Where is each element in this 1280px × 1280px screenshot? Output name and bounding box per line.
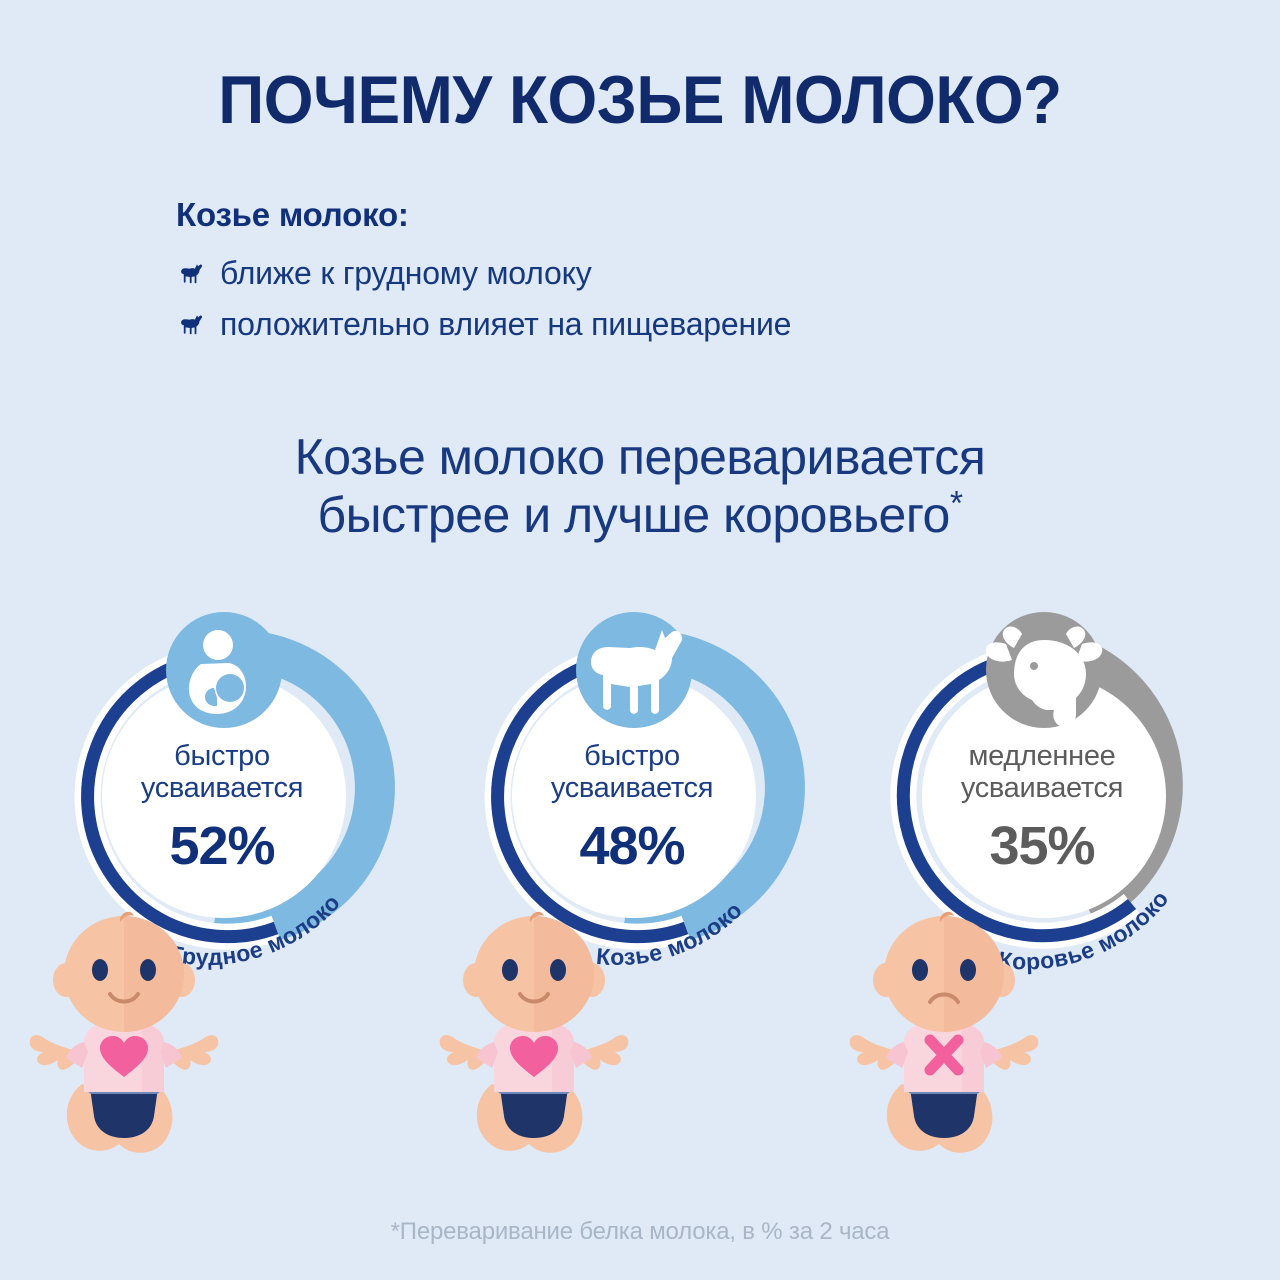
baby-happy-heart-illustration xyxy=(434,902,634,1172)
donut-chart-goat-milk: Козье молоко быстро усваивается 48% xyxy=(432,612,852,1172)
baby-eye-left xyxy=(502,959,518,981)
headline: Козье молоко переваривается быстрее и лу… xyxy=(0,428,1280,544)
donut-chart-breast-milk: Грудное молоко быстро усваивается 52% xyxy=(22,612,442,1172)
baby-happy-heart-illustration xyxy=(24,902,224,1172)
list-item-label: ближе к грудному молоку xyxy=(220,256,592,291)
donut-charts-row: Грудное молоко быстро усваивается 52% xyxy=(0,612,1280,1172)
goat-icon xyxy=(176,259,206,289)
headline-line-2: быстрее и лучше коровьего xyxy=(317,487,949,543)
baby-head xyxy=(873,912,1015,1032)
baby-eye-right xyxy=(140,959,156,981)
donut-chart-cow-milk: Коровье молоко медленнее усваивается 35% xyxy=(842,612,1262,1172)
baby-sad-cross-illustration xyxy=(844,902,1044,1172)
list-item: ближе к грудному молоку xyxy=(176,256,1136,291)
baby-eye-left xyxy=(912,959,928,981)
baby-head xyxy=(53,912,195,1032)
infographic-page: ПОЧЕМУ КОЗЬЕ МОЛОКО? Козье молоко: ближе… xyxy=(0,0,1280,1280)
intro-block: Козье молоко: ближе к грудному молоку по… xyxy=(176,196,1136,358)
footnote: *Переваривание белка молока, в % за 2 ча… xyxy=(0,1218,1280,1246)
list-item-label: положительно влияет на пищеварение xyxy=(220,307,791,342)
list-item: положительно влияет на пищеварение xyxy=(176,307,1136,342)
baby-eye-right xyxy=(550,959,566,981)
headline-line-2-wrap: быстрее и лучше коровьего* xyxy=(0,486,1280,544)
page-title: ПОЧЕМУ КОЗЬЕ МОЛОКО? xyxy=(38,66,1241,134)
headline-line-1: Козье молоко переваривается xyxy=(0,428,1280,486)
baby-head xyxy=(463,912,605,1032)
baby-eye-right xyxy=(960,959,976,981)
goat-icon xyxy=(176,310,206,340)
intro-heading: Козье молоко: xyxy=(176,196,1136,234)
baby-eye-left xyxy=(92,959,108,981)
headline-asterisk: * xyxy=(950,484,963,522)
